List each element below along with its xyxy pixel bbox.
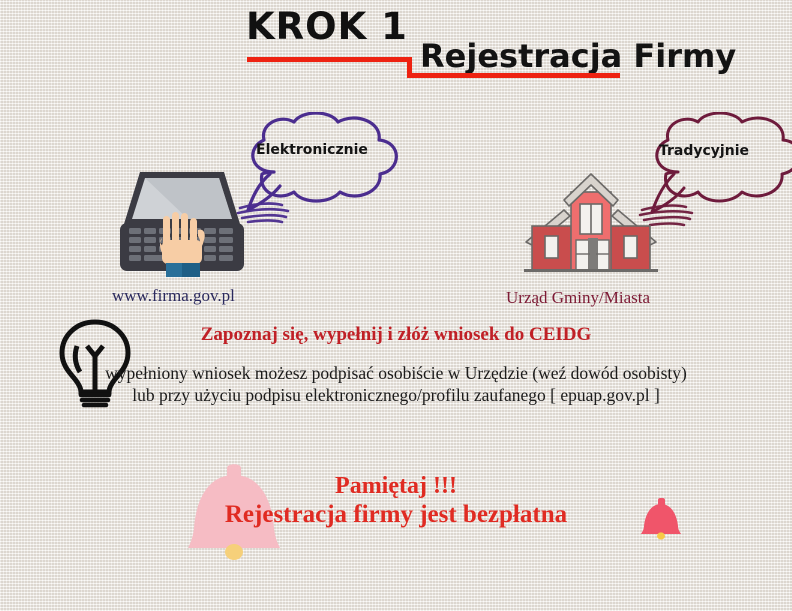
instructions-line-1: wypełniony wniosek możesz podpisać osobi…: [0, 362, 792, 384]
electronic-speech-bubble: [236, 112, 406, 227]
laptop-typing-hand-icon: [118, 168, 246, 280]
electronic-bubble-label: Elektronicznie: [256, 142, 368, 158]
instructions-body: wypełniony wniosek możesz podpisać osobi…: [0, 362, 792, 407]
infographic-canvas: KROK 1 Rejestracja Firmy Elektronicznie: [0, 0, 792, 611]
traditional-caption: Urząd Gminy/Miasta: [506, 288, 650, 308]
electronic-caption: www.firma.gov.pl: [112, 286, 235, 306]
instructions-headline: Zapoznaj się, wypełnij i złóż wniosek do…: [0, 324, 792, 346]
office-building-icon: [518, 166, 664, 282]
page-title-section: Rejestracja Firmy: [420, 40, 736, 72]
instructions-line-2: lub przy użyciu podpisu elektronicznego/…: [0, 384, 792, 406]
title-underline-top: [247, 57, 412, 62]
notice-line-2: Rejestracja firmy jest bezpłatna: [0, 500, 792, 530]
notice-line-1: Pamiętaj !!!: [0, 472, 792, 500]
title-underline-bottom: [407, 73, 620, 78]
traditional-bubble-label: Tradycyjnie: [659, 143, 749, 159]
notice-text: Pamiętaj !!! Rejestracja firmy jest bezp…: [0, 472, 792, 530]
page-title-step: KROK 1: [246, 8, 408, 45]
